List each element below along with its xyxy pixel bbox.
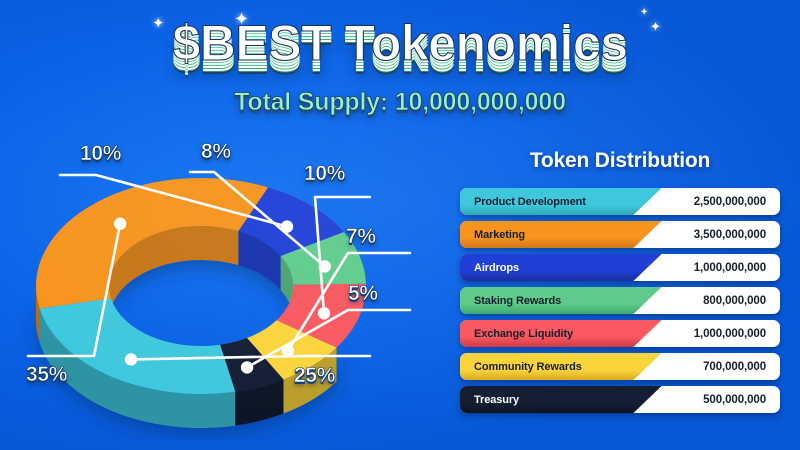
leader-dot [319, 260, 331, 272]
table-row[interactable]: Community Rewards700,000,000 [460, 353, 780, 380]
pct-label-treasury: 5% [348, 282, 378, 306]
row-category-label: Community Rewards [474, 353, 582, 380]
table-row[interactable]: Treasury500,000,000 [460, 386, 780, 413]
leader-dot [241, 361, 253, 373]
leader-dot [114, 218, 126, 230]
leader-dot [125, 353, 137, 365]
row-value-label: 1,000,000,000 [694, 320, 766, 347]
pct-label-marketing: 35% [26, 363, 67, 387]
distribution-panel: Token Distribution Product Development2,… [452, 148, 788, 428]
row-value-label: 500,000,000 [703, 386, 766, 413]
donut-chart: 10% 8% 10% 7% 5% 25% 35% [18, 150, 418, 440]
pct-label-exchange: 10% [304, 162, 345, 186]
row-category-label: Airdrops [474, 254, 519, 281]
pct-label-airdrops: 10% [80, 142, 121, 166]
row-value-label: 2,500,000,000 [694, 188, 766, 215]
row-category-label: Product Development [474, 188, 586, 215]
leader-dot [318, 307, 330, 319]
row-value-label: 700,000,000 [703, 353, 766, 380]
pct-label-staking: 8% [201, 140, 231, 164]
row-category-label: Exchange Liquidity [474, 320, 573, 347]
header: $BEST Tokenomics [0, 14, 800, 72]
row-category-label: Staking Rewards [474, 287, 561, 314]
leader-dot [281, 220, 293, 232]
row-category-label: Treasury [474, 386, 519, 413]
table-row[interactable]: Marketing3,500,000,000 [460, 221, 780, 248]
leader-dot [282, 345, 294, 357]
tokenomics-infographic: $BEST Tokenomics Total Supply: 10,000,00… [0, 0, 800, 450]
table-row[interactable]: Product Development2,500,000,000 [460, 188, 780, 215]
page-title: $BEST Tokenomics [172, 14, 627, 72]
table-row[interactable]: Staking Rewards800,000,000 [460, 287, 780, 314]
distribution-row-list: Product Development2,500,000,000Marketin… [460, 188, 780, 419]
row-value-label: 1,000,000,000 [694, 254, 766, 281]
pct-label-product: 25% [294, 364, 335, 388]
pct-label-community: 7% [346, 225, 376, 249]
table-row[interactable]: Airdrops1,000,000,000 [460, 254, 780, 281]
row-value-label: 3,500,000,000 [694, 221, 766, 248]
row-value-label: 800,000,000 [703, 287, 766, 314]
distribution-heading: Token Distribution [452, 148, 788, 174]
table-row[interactable]: Exchange Liquidity1,000,000,000 [460, 320, 780, 347]
row-category-label: Marketing [474, 221, 525, 248]
total-supply-subtitle: Total Supply: 10,000,000,000 [0, 86, 800, 118]
